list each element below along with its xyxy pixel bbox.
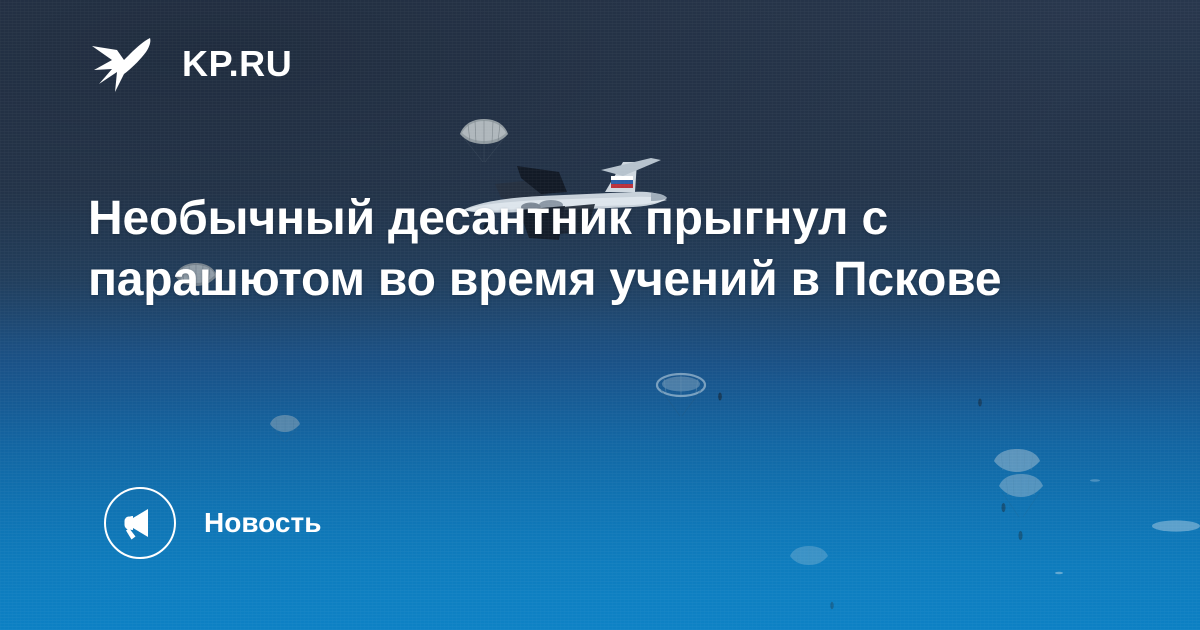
parachute-canopy <box>997 473 1045 507</box>
aircraft-far-speck <box>1152 514 1200 538</box>
site-wordmark: KP.RU <box>182 46 292 82</box>
parachute-canopy <box>268 414 302 444</box>
status-badge: Новость <box>104 487 321 559</box>
aircraft-far-speck <box>1055 570 1063 576</box>
share-card: KP.RU Необычный десантник прыгнул с пара… <box>0 0 1200 630</box>
paratrooper-dot <box>717 392 723 401</box>
parachute-canopy <box>992 448 1042 482</box>
paratrooper-dot <box>977 398 983 407</box>
paratrooper-dot <box>1000 502 1007 513</box>
megaphone-icon <box>104 487 176 559</box>
aircraft-far-speck <box>1090 478 1100 483</box>
page-title: Необычный десантник прыгнул с парашютом … <box>88 188 1028 311</box>
site-logo[interactable]: KP.RU <box>88 28 292 100</box>
parachute-canopy <box>655 372 707 420</box>
swallow-bird-icon <box>88 28 160 100</box>
paratrooper-dot <box>1017 530 1024 541</box>
parachute-canopy <box>788 545 830 573</box>
parachute-canopy <box>458 118 510 164</box>
status-badge-label: Новость <box>204 509 321 537</box>
paratrooper-dot <box>829 601 835 610</box>
